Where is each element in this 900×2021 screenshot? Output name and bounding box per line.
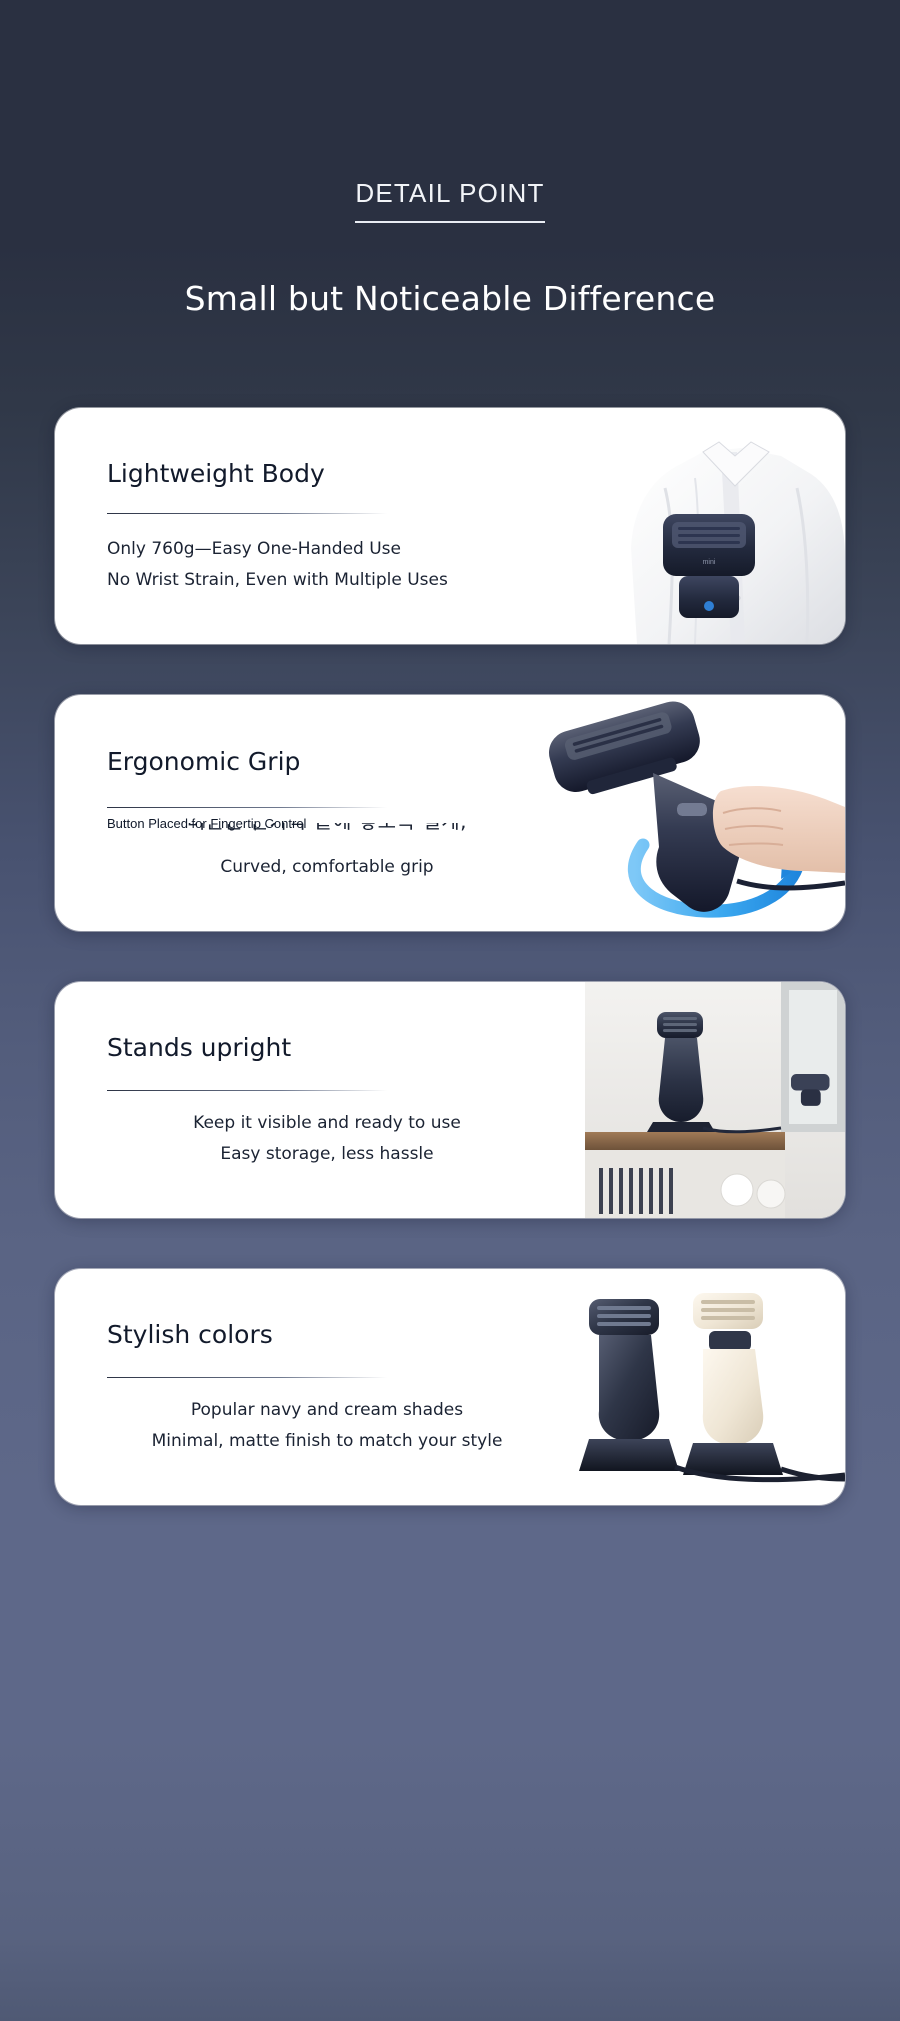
card-text-block: Ergonomic Grip 버튼은 손가락 끝에 닿도록 설계, Button… (107, 695, 547, 931)
card-divider (107, 1377, 387, 1378)
card-title: Ergonomic Grip (107, 747, 300, 776)
feature-card-stylish-colors[interactable]: Stylish colors Popular navy and cream sh… (55, 1269, 845, 1505)
two-color-steamers-image (575, 1269, 845, 1505)
card-title: Stylish colors (107, 1320, 273, 1349)
page-header: DETAIL POINT Small but Noticeable Differ… (0, 0, 900, 318)
svg-text:mini: mini (703, 559, 716, 566)
card-body-line: Minimal, matte finish to match your styl… (107, 1426, 547, 1457)
overlapping-caption-group: 버튼은 손가락 끝에 닿도록 설계, Button Placed for Fin… (107, 821, 547, 852)
card-divider (107, 513, 387, 514)
card-body: Keep it visible and ready to use Easy st… (107, 1108, 547, 1170)
feature-card-stands-upright[interactable]: Stands upright Keep it visible and ready… (55, 982, 845, 1218)
card-divider (107, 807, 387, 808)
card-body-line: Only 760g—Easy One-Handed Use (107, 534, 547, 565)
card-body-line: Curved, comfortable grip (107, 852, 547, 883)
shirt-steamer-image: mini (545, 408, 845, 644)
detail-point-page: DETAIL POINT Small but Noticeable Differ… (0, 0, 900, 2021)
card-body-line: Popular navy and cream shades (107, 1395, 547, 1426)
hand-grip-steamer-image (525, 695, 845, 931)
card-body: Popular navy and cream shades Minimal, m… (107, 1395, 547, 1457)
feature-card-ergonomic-grip[interactable]: Ergonomic Grip 버튼은 손가락 끝에 닿도록 설계, Button… (55, 695, 845, 931)
card-text-block: Stands upright Keep it visible and ready… (107, 982, 547, 1218)
card-body: 버튼은 손가락 끝에 닿도록 설계, Button Placed for Fin… (107, 821, 547, 883)
card-body-line: No Wrist Strain, Even with Multiple Uses (107, 565, 547, 596)
card-text-block: Stylish colors Popular navy and cream sh… (107, 1269, 547, 1505)
card-divider (107, 1090, 387, 1091)
card-body-line: Keep it visible and ready to use (107, 1108, 547, 1139)
card-title: Stands upright (107, 1033, 291, 1062)
upright-steamer-shelf-image (585, 982, 845, 1218)
page-eyebrow: DETAIL POINT (355, 178, 544, 223)
overlay-caption: Button Placed for Fingertip Control (107, 815, 547, 833)
card-body: Only 760g—Easy One-Handed Use No Wrist S… (107, 534, 547, 596)
feature-card-list: mini Lightweight Body Only 760g—Easy One… (0, 408, 900, 1505)
card-title: Lightweight Body (107, 459, 325, 488)
card-body-line: Easy storage, less hassle (107, 1139, 547, 1170)
card-text-block: Lightweight Body Only 760g—Easy One-Hand… (107, 408, 547, 644)
feature-card-lightweight-body[interactable]: mini Lightweight Body Only 760g—Easy One… (55, 408, 845, 644)
page-title: Small but Noticeable Difference (0, 279, 900, 318)
